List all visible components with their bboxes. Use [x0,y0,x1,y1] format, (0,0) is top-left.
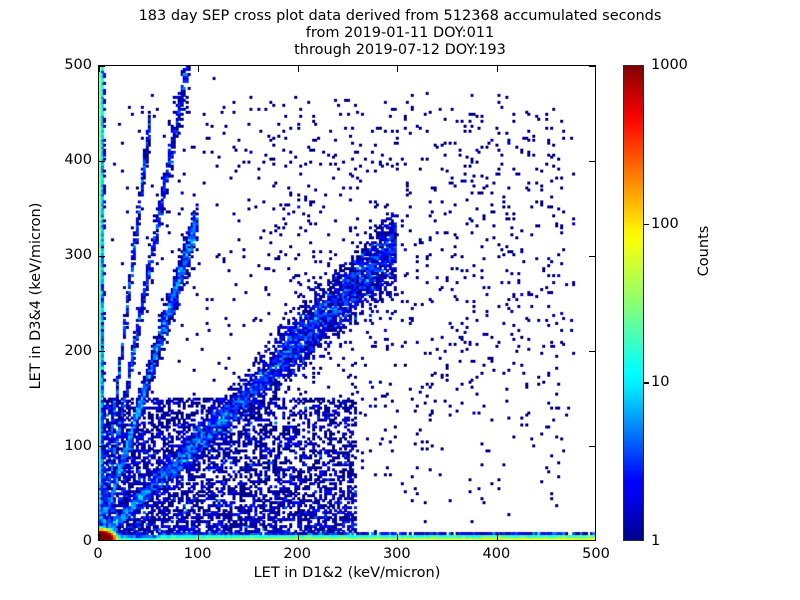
colorbar-tick-label: 10 [651,374,669,390]
scatter-heatmap-canvas [99,66,595,540]
x-axis-tick [98,534,99,540]
y-axis-tick [99,161,105,162]
y-axis-tick-right [589,256,595,257]
figure-canvas: 183 day SEP cross plot data derived from… [0,0,800,600]
x-axis-tick-label: 300 [383,546,411,562]
plot-axes-frame [98,65,596,541]
y-axis-tick [99,446,105,447]
x-axis-tick-label: 400 [483,546,511,562]
x-axis-tick-label: 500 [582,546,610,562]
y-axis-tick-right [589,351,595,352]
x-axis-tick-top [397,66,398,72]
y-axis-tick-right [589,65,595,66]
y-axis-tick [99,65,105,66]
colorbar-tick [644,224,649,225]
plot-title: 183 day SEP cross plot data derived from… [0,8,800,59]
y-axis-tick-label: 100 [50,438,92,454]
colorbar-tick-label: 1000 [651,57,688,73]
x-axis-tick-top [298,66,299,72]
y-axis-tick-label: 300 [50,247,92,263]
x-axis-tick [298,534,299,540]
y-axis-label: LET in D3&4 (keV/micron) [28,58,44,534]
x-axis-tick [397,534,398,540]
title-line-1: 183 day SEP cross plot data derived from… [0,8,800,25]
x-axis-tick [198,534,199,540]
x-axis-tick-top [198,66,199,72]
colorbar-label: Counts [696,151,712,351]
x-axis-tick-label: 200 [283,546,311,562]
x-axis-tick-top [497,66,498,72]
colorbar-tick [644,382,649,383]
y-axis-tick-label: 400 [50,152,92,168]
y-axis-tick-label: 200 [50,343,92,359]
x-axis-label: LET in D1&2 (keV/micron) [98,565,596,581]
colorbar-gradient [623,65,644,541]
y-axis-tick-right [589,161,595,162]
x-axis-tick [497,534,498,540]
x-axis-tick-label: 0 [93,546,102,562]
x-axis-tick-label: 100 [184,546,212,562]
colorbar-tick-label: 100 [651,216,679,232]
colorbar-container: 1101001000 [623,65,644,541]
y-axis-tick-right [589,446,595,447]
y-axis-tick [99,256,105,257]
y-axis-tick-label: 500 [50,57,92,73]
x-axis-tick-top [98,66,99,72]
title-line-2: from 2019-01-11 DOY:011 [0,25,800,42]
y-axis-tick [99,351,105,352]
colorbar-tick-label: 1 [651,533,660,549]
y-axis-tick-label: 0 [50,533,92,549]
